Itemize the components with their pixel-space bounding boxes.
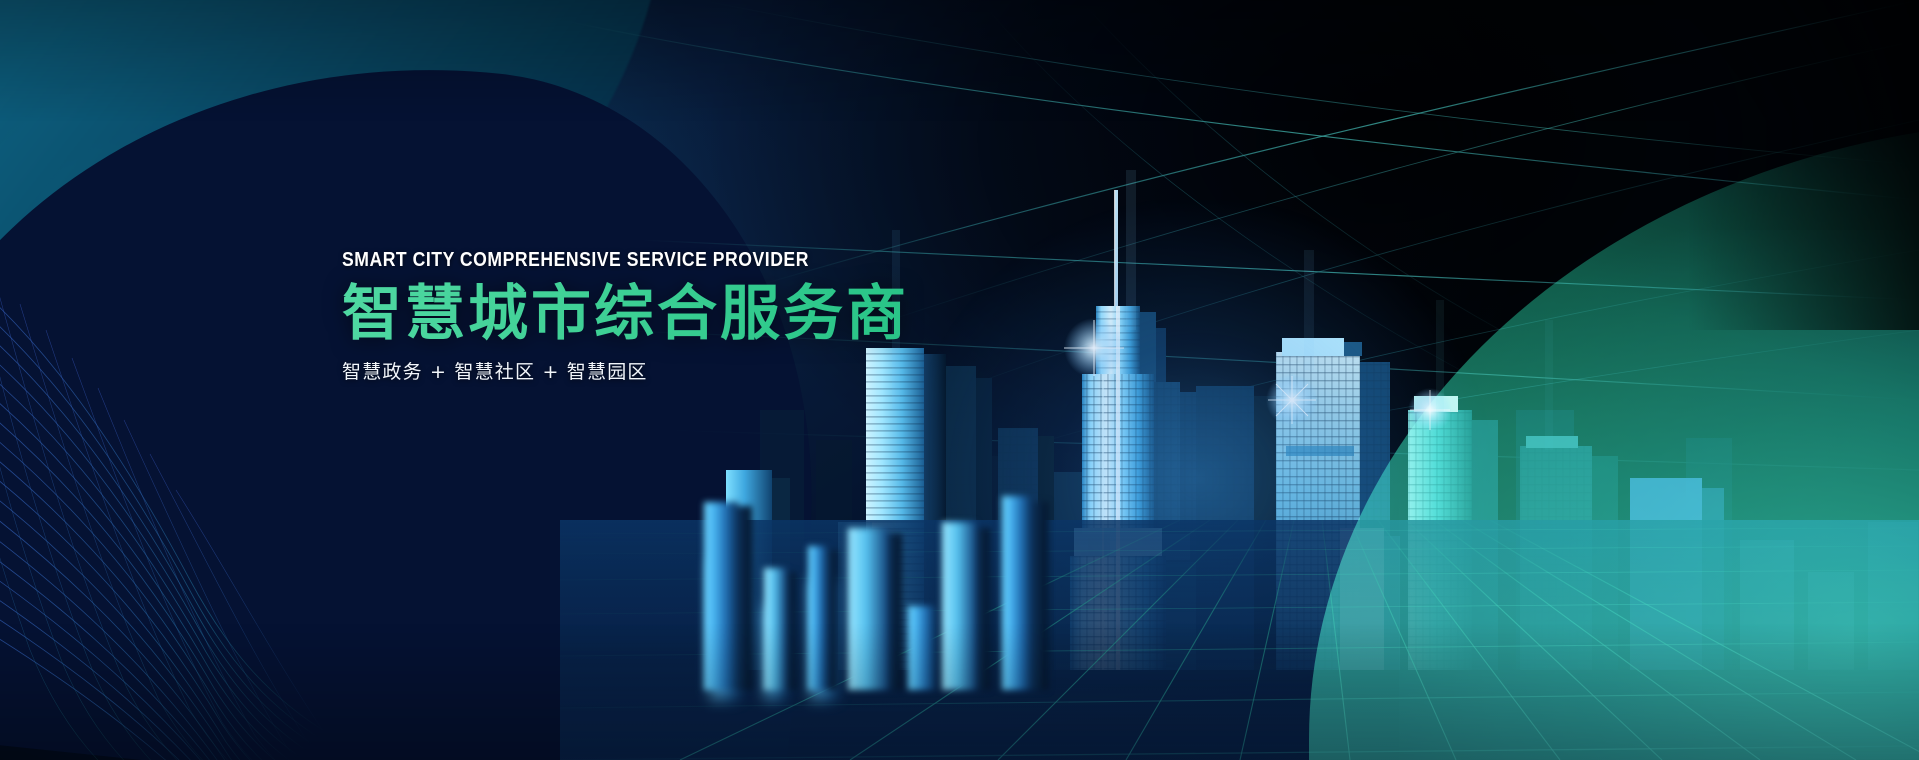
hero-subtitle: 智慧政务 + 智慧社区 + 智慧园区 [342,363,909,382]
hero-headline: 智慧城市综合服务商 [342,282,909,347]
foreground-towers-blur [690,480,1210,690]
hero-text-block: SMART CITY COMPREHENSIVE SERVICE PROVIDE… [342,250,909,382]
smart-city-hero-banner: SMART CITY COMPREHENSIVE SERVICE PROVIDE… [0,0,1919,760]
hero-tagline: SMART CITY COMPREHENSIVE SERVICE PROVIDE… [342,250,841,270]
